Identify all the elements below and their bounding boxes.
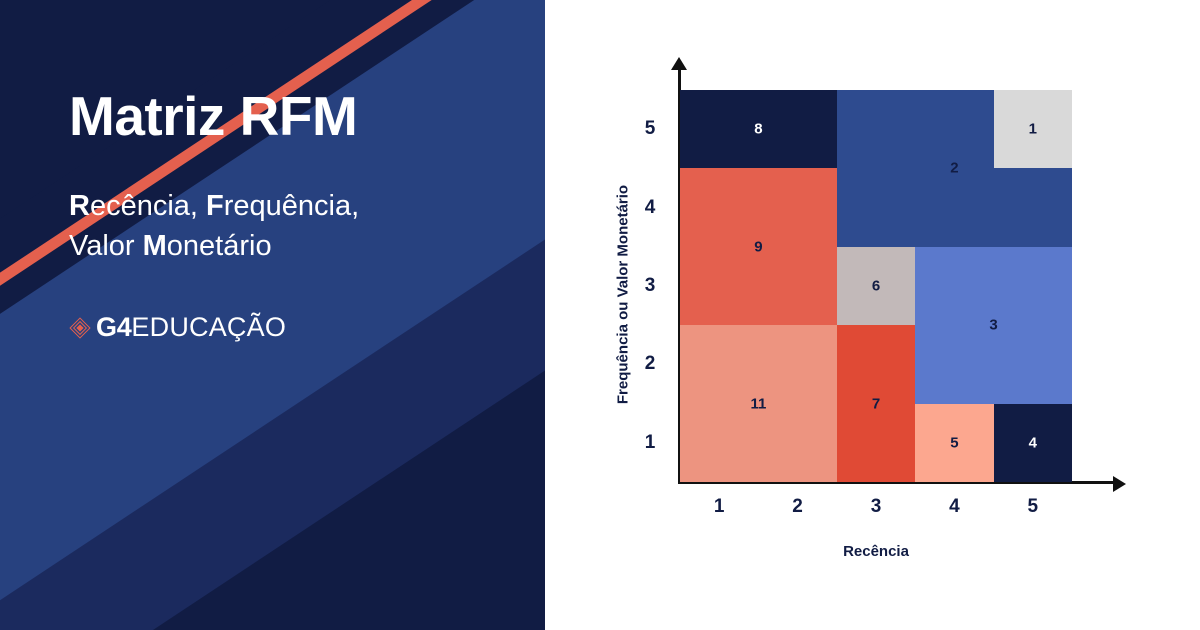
subtitle-line-1: Recência, Frequência, [69,186,509,226]
g4-diamond-icon [69,317,91,339]
x-axis-arrowhead-icon [1113,476,1126,492]
heatmap-cell-label: 5 [950,434,958,451]
y-axis-arrowhead-icon [671,57,687,70]
y-tick-1: 1 [630,432,670,454]
heatmap-cell-label: 1 [1029,121,1037,138]
heatmap-cell-label: 11 [750,395,766,412]
y-tick-4: 4 [630,197,670,219]
heatmap-cell-label: 3 [989,317,997,334]
y-tick-2: 2 [630,353,670,375]
right-chart-panel: 8219631011754 54321 12345 Recência Frequ… [545,0,1200,630]
subtitle-line-2: Valor Monetário [69,226,509,266]
page-subtitle: Recência, Frequência, Valor Monetário [69,186,509,266]
heatmap-plot-area: 8219631011754 [680,90,1072,482]
y-tick-5: 5 [630,118,670,140]
page-title: Matriz RFM [69,88,509,146]
x-tick-3: 3 [846,496,906,518]
logo-text-educacao: EDUCAÇÃO [131,312,286,343]
x-tick-4: 4 [924,496,984,518]
x-tick-5: 5 [1003,496,1063,518]
brand-logo: G4 EDUCAÇÃO [69,312,286,343]
rfm-matrix-chart: 8219631011754 54321 12345 Recência Frequ… [545,0,1200,630]
heatmap-cell-label: 8 [754,121,762,138]
heatmap-cell-label: 9 [754,238,762,255]
y-tick-3: 3 [630,275,670,297]
heatmap-cell-label: 7 [872,395,880,412]
x-axis-tick-labels: 12345 [680,496,1072,526]
x-tick-2: 2 [768,496,828,518]
title-block: Matriz RFM Recência, Frequência, Valor M… [69,88,509,266]
heatmap-cell-label: 4 [1029,434,1037,451]
logo-text-g4: G4 [96,312,131,343]
heatmap-cell-label: 2 [950,160,958,177]
heatmap-cell-label: 6 [872,278,880,295]
y-axis-title: Frequência ou Valor Monetário [615,165,632,425]
x-axis-title: Recência [680,543,1072,560]
y-axis-tick-labels: 54321 [630,90,670,482]
poster-canvas: Matriz RFM Recência, Frequência, Valor M… [0,0,1200,630]
x-tick-1: 1 [689,496,749,518]
left-branding-panel: Matriz RFM Recência, Frequência, Valor M… [0,0,545,630]
